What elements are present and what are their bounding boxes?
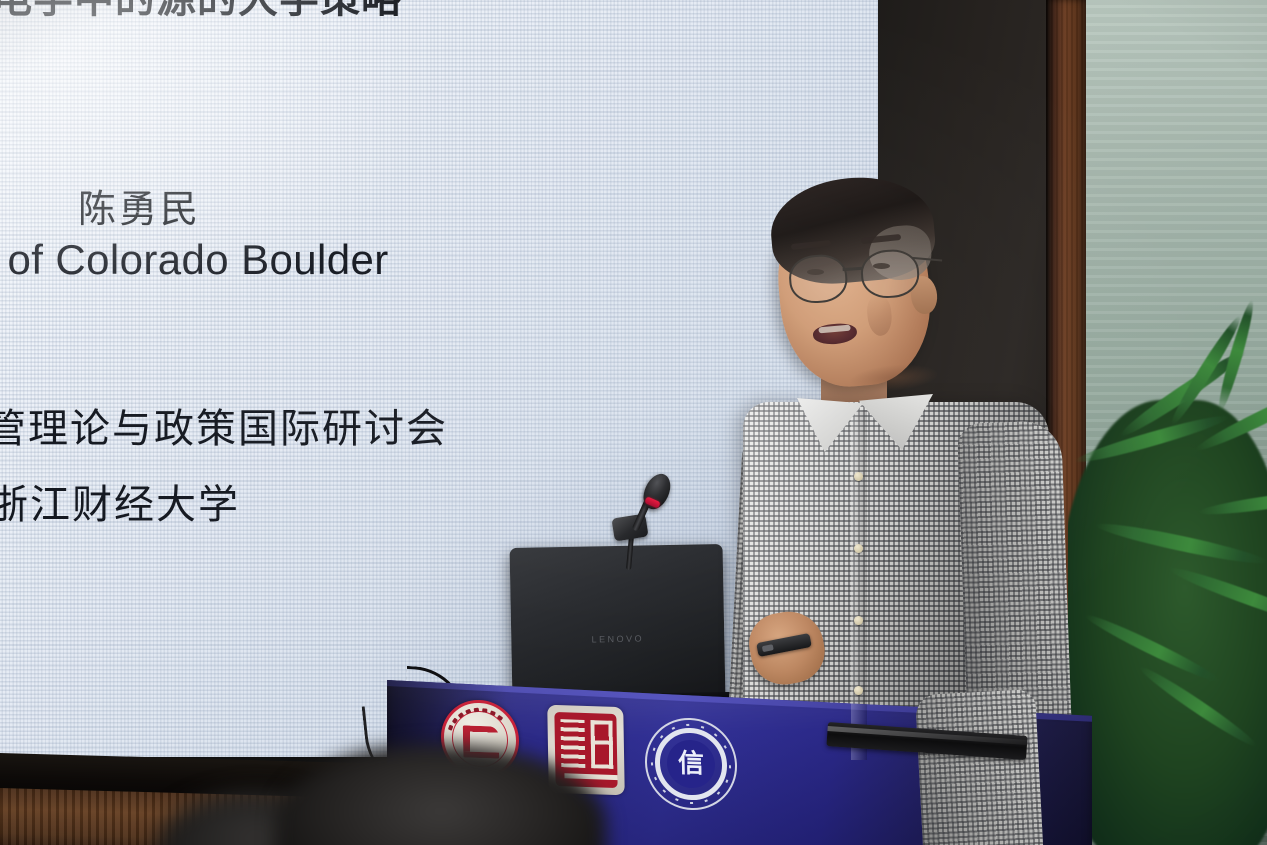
shirt-button — [854, 472, 863, 481]
university-seal-center-glyph: 信 — [678, 751, 704, 778]
university-seal-logo: 信 — [644, 716, 738, 811]
laptop-brand-logo: LENOVO — [591, 633, 644, 644]
potted-palm-plant — [1068, 290, 1267, 845]
shirt-placket — [851, 410, 867, 760]
clicker-button[interactable] — [762, 644, 774, 652]
eyeglass-lens-left — [788, 253, 849, 305]
eyeglass-bridge — [843, 267, 863, 271]
shirt-button — [854, 544, 863, 553]
slide-venue: 浙江财经大学 — [0, 472, 240, 530]
slide-affiliation: y of Colorado Boulder — [0, 236, 389, 284]
slide-conference: 管理论与政策国际研讨会 — [0, 396, 448, 454]
eyeglass-lens-right — [859, 248, 920, 300]
nose — [866, 295, 893, 337]
conference-photo-scene: 电学中的源的大学策略 陈勇民 y of Colorado Boulder 管理论… — [0, 0, 1267, 845]
presenter-laptop[interactable]: LENOVO — [510, 544, 726, 702]
slide-author-name: 陈勇民 — [78, 178, 201, 233]
shirt-button — [854, 686, 863, 695]
eyeglass-temple-arm — [912, 257, 942, 262]
slide-title: 电学中的源的大学策略 — [0, 0, 612, 24]
chin-shadow — [848, 361, 940, 395]
shirt-button — [854, 616, 863, 625]
teeth — [818, 325, 850, 334]
presenter-shirt-tail — [915, 689, 1047, 845]
